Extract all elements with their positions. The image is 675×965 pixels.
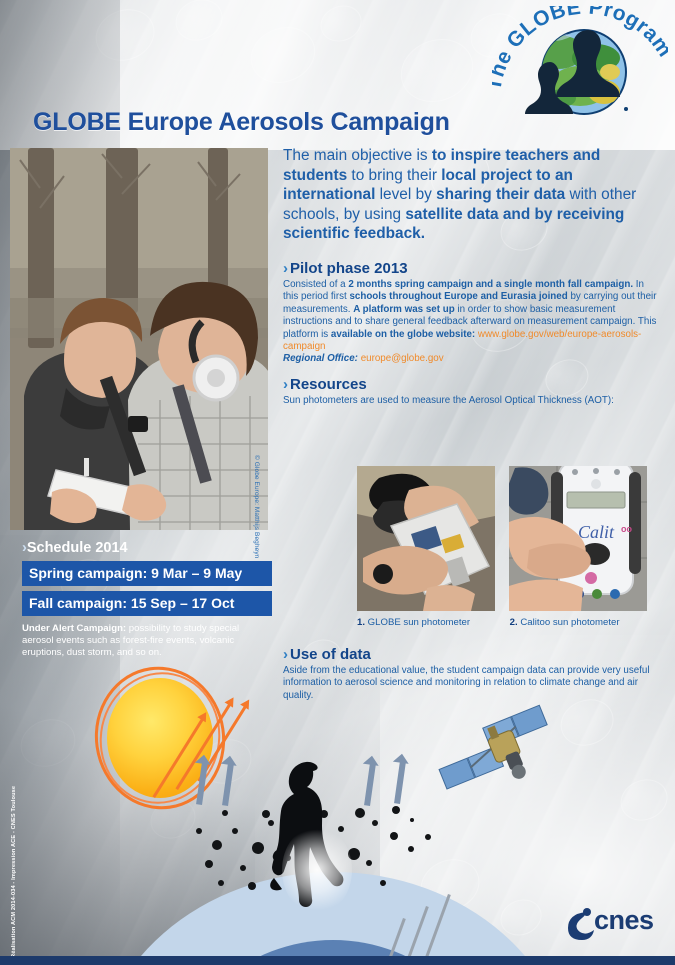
page-title: GLOBE Europe Aerosols Campaign: [33, 108, 450, 137]
resource-captions: 1. GLOBE sun photometer 2. Calitoo sun p…: [357, 617, 657, 628]
schedule-fall-bar: Fall campaign: 15 Sep – 17 Oct: [22, 591, 272, 616]
pilot-t1: Consisted of a: [283, 279, 348, 290]
objective-b3: sharing their data: [436, 186, 565, 203]
particle: [390, 832, 398, 840]
use-of-data-heading-text: Use of data: [290, 646, 371, 663]
pilot-heading-text: Pilot phase 2013: [290, 260, 408, 277]
particle: [392, 806, 400, 814]
satellite-illustration: [432, 700, 567, 810]
chevron-right-icon: ›: [283, 376, 288, 393]
section-heading-use-of-data: ›Use of data: [283, 646, 665, 663]
photo-credit: © Globe Europe: Matthijs Begheyn: [253, 455, 260, 535]
globe-sun-photometer-photo: [357, 466, 495, 611]
pilot-b1: 2 months spring campaign and a single mo…: [348, 279, 633, 290]
caption-2: 2. Calitoo sun photometer: [510, 617, 620, 628]
schedule-spring-bar: Spring campaign: 9 Mar – 9 May: [22, 561, 272, 586]
particle: [425, 834, 431, 840]
pilot-b4: available on the globe website:: [331, 329, 475, 340]
section-heading-pilot-phase: ›Pilot phase 2013: [283, 260, 665, 277]
particle: [232, 828, 238, 834]
particle: [212, 840, 222, 850]
particle: [248, 882, 256, 890]
particle: [410, 818, 414, 822]
use-of-data-body: Aside from the educational value, the st…: [283, 665, 653, 702]
caption-1-number: 1.: [357, 617, 365, 628]
schedule-heading-text: Schedule 2014: [27, 540, 128, 556]
chevron-right-icon: ›: [283, 260, 288, 277]
schedule-alert-label: Under Alert Campaign:: [22, 623, 126, 634]
particle: [240, 865, 246, 871]
objective-paragraph: The main objective is to inspire teacher…: [283, 146, 665, 244]
caption-1: 1. GLOBE sun photometer: [357, 617, 507, 628]
bottom-accent-bar: [0, 956, 675, 965]
particle: [372, 820, 378, 826]
resources-heading-text: Resources: [290, 376, 367, 393]
schedule-box: ›Schedule 2014 Spring campaign: 9 Mar – …: [22, 540, 280, 659]
particle: [196, 828, 202, 834]
particle: [218, 880, 224, 886]
pilot-b2: schools throughout Europe and Eurasia jo…: [349, 291, 567, 302]
particle: [252, 842, 264, 854]
use-of-data-section: ›Use of data Aside from the educational …: [283, 646, 665, 702]
regional-office-label: Regional Office:: [283, 353, 358, 364]
poster-root: The GLOBE Program GLOBE Europe Aerosols …: [0, 0, 675, 965]
resource-photos: Calit oo: [357, 466, 647, 611]
section-heading-resources: ›Resources: [283, 376, 665, 393]
person-glow: [282, 826, 352, 914]
regional-office-email-link[interactable]: europe@globe.gov: [361, 353, 444, 364]
schedule-alert-note: Under Alert Campaign: possibility to stu…: [22, 623, 268, 659]
cnes-wordmark: cnes: [594, 905, 654, 936]
caption-2-text: Calitoo sun photometer: [518, 617, 620, 628]
section-heading-schedule: ›Schedule 2014: [22, 540, 280, 556]
particle: [408, 846, 414, 852]
students-photo: [10, 148, 268, 530]
caption-2-number: 2.: [510, 617, 518, 628]
svg-text:Calit: Calit: [578, 522, 615, 542]
globe-program-logo: The GLOBE Program: [492, 6, 668, 118]
chevron-right-icon: ›: [283, 646, 288, 663]
particle: [222, 810, 228, 816]
objective-t1: The main objective is: [283, 147, 432, 164]
resources-intro: Sun photometers are used to measure the …: [283, 395, 665, 407]
objective-t2: to bring their: [347, 167, 441, 184]
pilot-body: Consisted of a 2 months spring campaign …: [283, 279, 658, 366]
svg-text:oo: oo: [621, 524, 632, 534]
particle: [366, 860, 372, 866]
particle: [205, 860, 213, 868]
production-credit: Réalisation ACM 2014-034 - Impression AC…: [11, 786, 17, 958]
objective-t3: level by: [375, 186, 436, 203]
calitoo-sun-photometer-photo: Calit oo: [509, 466, 647, 611]
cnes-logo: cnes: [566, 906, 666, 940]
particle: [380, 880, 386, 886]
caption-1-text: GLOBE sun photometer: [365, 617, 470, 628]
pilot-b3: A platform was set up: [353, 304, 454, 315]
right-content-column: The main objective is to inspire teacher…: [283, 146, 665, 407]
